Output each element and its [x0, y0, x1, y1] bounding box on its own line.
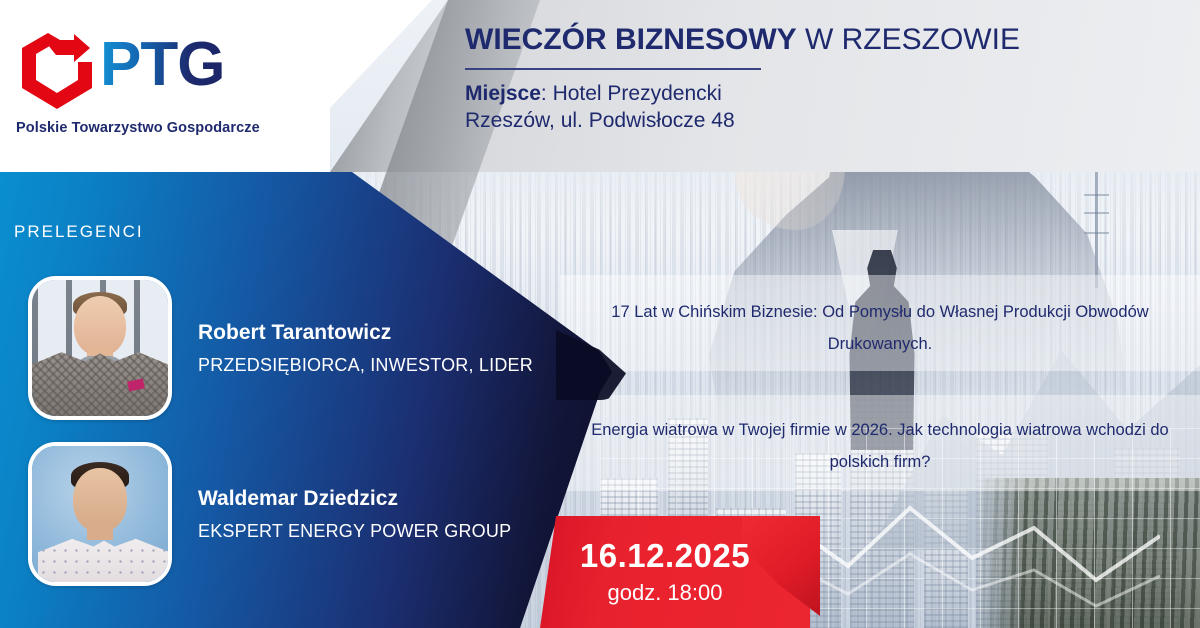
ptg-logo[interactable]: PTG Polskie Towarzystwo Gospodarcze — [14, 28, 264, 138]
avatar — [28, 276, 172, 420]
speaker-item: Robert Tarantowicz PRZEDSIĘBIORCA, INWES… — [28, 276, 533, 420]
venue-name: Hotel Prezydencki — [553, 82, 722, 105]
date-ribbon-content: 16.12.2025 godz. 18:00 — [540, 516, 790, 628]
speakers-label: PRELEGENCI — [14, 222, 144, 242]
venue-line: Miejsce: Hotel Prezydencki — [465, 80, 1085, 107]
event-title-regular: W RZESZOWIE — [797, 23, 1020, 56]
topic-text: 17 Lat w Chińskim Biznesie: Od Pomysłu d… — [568, 296, 1192, 360]
event-banner: PTG Polskie Towarzystwo Gospodarcze WIEC… — [0, 0, 1200, 628]
logo-subtitle: Polskie Towarzystwo Gospodarcze — [16, 120, 260, 136]
title-divider — [465, 68, 761, 70]
venue-separator: : — [541, 82, 553, 105]
speaker-name: Robert Tarantowicz — [198, 320, 533, 345]
speaker-name: Waldemar Dziedzicz — [198, 486, 511, 511]
venue-label: Miejsce — [465, 82, 541, 105]
topic-text: Energia wiatrowa w Twojej firmie w 2026.… — [568, 414, 1192, 478]
speaker-item: Waldemar Dziedzicz EKSPERT ENERGY POWER … — [28, 442, 511, 586]
speaker-role: PRZEDSIĘBIORCA, INWESTOR, LIDER — [198, 355, 533, 376]
avatar — [28, 442, 172, 586]
event-title-bold: WIECZÓR BIZNESOWY — [465, 23, 797, 56]
event-title: WIECZÓR BIZNESOWY W RZESZOWIE — [465, 24, 1085, 56]
event-time: godz. 18:00 — [608, 580, 723, 606]
event-date: 16.12.2025 — [580, 538, 750, 574]
header-block: WIECZÓR BIZNESOWY W RZESZOWIE Miejsce: H… — [465, 24, 1085, 134]
venue-address: Rzeszów, ul. Podwisłocze 48 — [465, 107, 1085, 134]
shield-arrow-icon — [14, 28, 100, 114]
logo-wordmark: PTG — [100, 34, 224, 96]
speaker-role: EKSPERT ENERGY POWER GROUP — [198, 521, 511, 542]
